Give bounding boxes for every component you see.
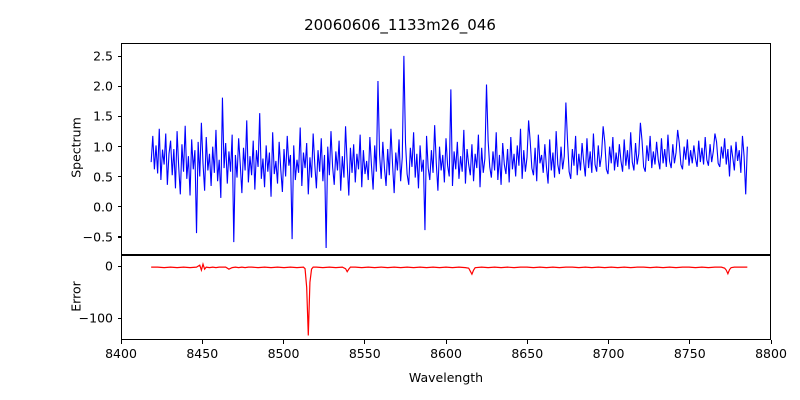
x-tick — [771, 340, 772, 344]
y-tick-error — [118, 318, 122, 319]
y-tick-error — [118, 266, 122, 267]
x-ticklabel: 8450 — [186, 346, 218, 361]
spectrum-axes — [121, 43, 771, 255]
y-axis-label-error: Error — [69, 241, 84, 351]
y-tick-spectrum — [118, 176, 122, 177]
x-ticklabel: 8400 — [105, 346, 137, 361]
x-ticklabel: 8650 — [511, 346, 543, 361]
x-tick — [283, 340, 284, 344]
x-ticklabel: 8600 — [430, 346, 462, 361]
x-ticklabel: 8500 — [268, 346, 300, 361]
error-line-series — [122, 256, 770, 339]
x-tick — [202, 340, 203, 344]
figure-canvas: 20060606_1133m26_046 −0.50.00.51.01.52.0… — [0, 0, 800, 400]
figure-title: 20060606_1133m26_046 — [0, 16, 800, 34]
x-tick — [608, 340, 609, 344]
x-ticklabel: 8550 — [349, 346, 381, 361]
x-tick — [364, 340, 365, 344]
x-ticklabel: 8700 — [593, 346, 625, 361]
x-tick — [689, 340, 690, 344]
spectrum-line-series — [122, 44, 770, 254]
y-ticklabel-spectrum: 2.5 — [76, 49, 113, 64]
x-ticklabel: 8800 — [755, 346, 787, 361]
y-tick-spectrum — [118, 146, 122, 147]
y-tick-spectrum — [118, 236, 122, 237]
y-tick-spectrum — [118, 56, 122, 57]
x-axis-label: Wavelength — [121, 370, 771, 385]
x-tick — [527, 340, 528, 344]
y-tick-spectrum — [118, 86, 122, 87]
x-tick — [446, 340, 447, 344]
x-tick — [121, 340, 122, 344]
y-tick-spectrum — [118, 206, 122, 207]
x-ticklabel: 8750 — [674, 346, 706, 361]
y-tick-spectrum — [118, 116, 122, 117]
error-axes — [121, 255, 771, 340]
y-axis-label-spectrum: Spectrum — [69, 93, 84, 203]
